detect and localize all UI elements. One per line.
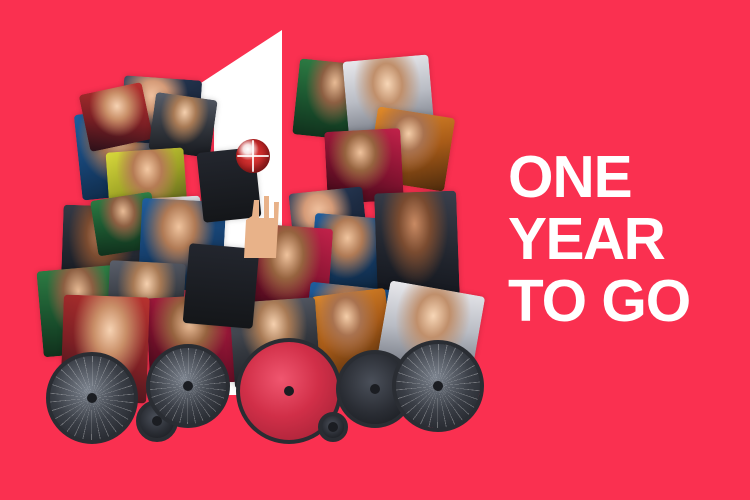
athlete-table-tennis [60, 205, 145, 304]
wheel-hub [328, 422, 338, 432]
wheelchair-caster [318, 412, 348, 442]
athlete-volleyball [90, 191, 160, 256]
wheelchair-wheel-mid-left [146, 344, 230, 428]
athlete-fencing [79, 82, 154, 152]
athlete-archery [148, 92, 217, 158]
wheelchair-wheel-right [383, 331, 492, 440]
wheel-hub [370, 384, 380, 394]
athlete-rugby [342, 54, 435, 147]
headline-line-year: YEAR [508, 208, 738, 270]
wheel-hub [87, 393, 97, 403]
headline-line-one: ONE [508, 146, 738, 208]
athlete-sprinter [138, 198, 227, 292]
wheelchair-wheel-mid-right [336, 350, 414, 428]
wheel-hub [183, 381, 193, 391]
ball-seam-horizontal [237, 155, 269, 157]
wheel-hub [432, 380, 444, 392]
wheelchair-wheel-red [236, 338, 342, 444]
athlete-taekwondo [309, 213, 391, 293]
athlete-cycling [311, 288, 394, 376]
athlete-shooting [120, 75, 202, 146]
headline-block: ONE YEAR TO GO [508, 146, 740, 332]
athlete-judo [106, 147, 189, 226]
basketball-prop [236, 139, 270, 173]
athlete-crowd-left [106, 260, 186, 342]
athlete-goalball [74, 105, 174, 200]
athlete-wheelchair-tennis [60, 295, 150, 404]
athlete-athletics-brasil [292, 58, 374, 141]
athlete-brasil-vest [36, 265, 123, 358]
poster-canvas: ONE YEAR TO GO [0, 0, 750, 500]
wheelchair-wheel-left [46, 352, 138, 444]
reaching-hands [228, 180, 298, 260]
athlete-swimming [106, 196, 204, 271]
athlete-wheelchair-basketball [229, 297, 321, 389]
athlete-wheelchair-racing [375, 280, 486, 387]
athlete-judo-red [324, 128, 404, 204]
athlete-wheelchair-rugby [146, 294, 242, 387]
wheelchair-wheel-small-left [136, 400, 178, 442]
athlete-basketball-japan [245, 223, 333, 322]
athlete-equestrian [374, 191, 460, 304]
athlete-powerlifting [288, 186, 369, 265]
headline-line-to-go: TO GO [508, 270, 738, 332]
athlete-crowd-fill-1 [183, 243, 260, 329]
wheel-hub [152, 416, 162, 426]
athlete-boccia-france [302, 282, 398, 375]
athlete-wrestling [367, 106, 456, 191]
wheel-hub [284, 386, 294, 396]
numeral-one-path [178, 30, 282, 395]
